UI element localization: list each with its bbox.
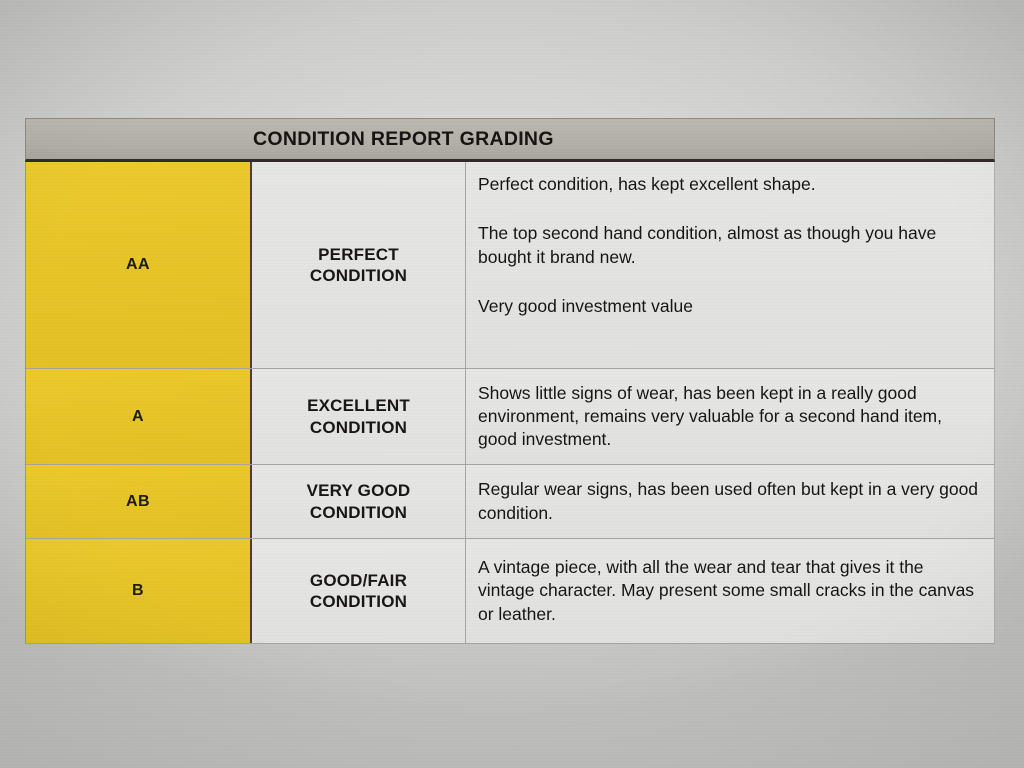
grade-description-cell: Perfect condition, has kept excellent sh… — [466, 162, 994, 368]
grade-name-cell: VERY GOOD CONDITION — [252, 465, 466, 538]
table-body: AA PERFECT CONDITION Perfect condition, … — [25, 162, 995, 644]
grade-name-line1: GOOD/FAIR — [310, 570, 407, 591]
grade-code-cell: B — [26, 539, 252, 643]
grade-code-cell: AA — [26, 162, 252, 368]
grade-name-cell: PERFECT CONDITION — [252, 162, 466, 368]
grade-name-line2: CONDITION — [310, 591, 407, 612]
description-paragraph: Very good investment value — [478, 295, 980, 318]
description-paragraph: Shows little signs of wear, has been kep… — [478, 382, 980, 452]
grade-name-line1: EXCELLENT — [307, 395, 410, 416]
grade-description-cell: Shows little signs of wear, has been kep… — [466, 369, 994, 464]
table-row: AA PERFECT CONDITION Perfect condition, … — [26, 162, 994, 369]
description-paragraph: Regular wear signs, has been used often … — [478, 478, 980, 525]
grade-description-cell: A vintage piece, with all the wear and t… — [466, 539, 994, 643]
table-header-bar: CONDITION REPORT GRADING — [25, 118, 995, 162]
grade-name-line2: CONDITION — [310, 265, 407, 286]
grade-code-label: A — [132, 408, 144, 426]
grade-code-cell: AB — [26, 465, 252, 538]
grade-code-label: AB — [126, 493, 150, 511]
description-paragraph: A vintage piece, with all the wear and t… — [478, 556, 980, 626]
grade-name-line2: CONDITION — [310, 417, 407, 438]
grade-name-cell: EXCELLENT CONDITION — [252, 369, 466, 464]
grade-code-label: B — [132, 582, 144, 600]
grade-name-line1: VERY GOOD — [307, 480, 411, 501]
grade-code-label: AA — [126, 256, 150, 274]
table-row: B GOOD/FAIR CONDITION A vintage piece, w… — [26, 539, 994, 643]
grade-description-cell: Regular wear signs, has been used often … — [466, 465, 994, 538]
condition-grading-table: CONDITION REPORT GRADING AA PERFECT COND… — [25, 118, 995, 645]
description-paragraph: The top second hand condition, almost as… — [478, 222, 980, 269]
table-row: A EXCELLENT CONDITION Shows little signs… — [26, 369, 994, 465]
grade-name-line1: PERFECT — [318, 244, 399, 265]
grade-name-line2: CONDITION — [310, 502, 407, 523]
grade-code-cell: A — [26, 369, 252, 464]
table-row: AB VERY GOOD CONDITION Regular wear sign… — [26, 465, 994, 539]
description-paragraph: Perfect condition, has kept excellent sh… — [478, 173, 980, 196]
table-title: CONDITION REPORT GRADING — [253, 128, 554, 151]
grade-name-cell: GOOD/FAIR CONDITION — [252, 539, 466, 643]
